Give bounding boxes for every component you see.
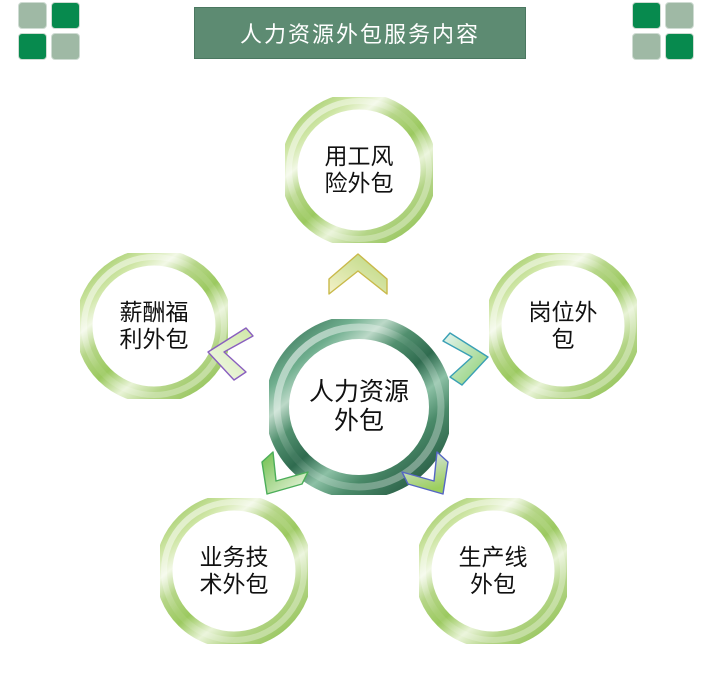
page-header: 人力资源外包服务内容 (0, 0, 718, 70)
corner-square-dark (665, 33, 694, 60)
corner-square-dark (51, 2, 80, 29)
corner-square-light (665, 2, 694, 29)
arrow-down-right-icon (397, 448, 457, 510)
ring-graphic (285, 97, 433, 243)
service-node-top[interactable]: 用工风 险外包 (285, 97, 433, 243)
service-node-right[interactable]: 岗位外 包 (489, 253, 637, 399)
arrow-down-left-icon (253, 448, 313, 510)
corner-square-dark (632, 2, 661, 29)
page-title: 人力资源外包服务内容 (240, 17, 480, 49)
ring-graphic (489, 253, 637, 399)
arrow-up-icon (325, 248, 391, 300)
ring-graphic (160, 498, 308, 644)
service-node-bottom-left[interactable]: 业务技 术外包 (160, 498, 308, 644)
corner-square-light (632, 33, 661, 60)
corner-square-light (51, 33, 80, 60)
header-title-bar: 人力资源外包服务内容 (194, 7, 526, 59)
corner-square-light (18, 2, 47, 29)
ring-graphic (419, 498, 567, 644)
arrow-right-icon (442, 328, 494, 390)
header-corner-left (18, 2, 84, 62)
arrow-left-icon (202, 323, 254, 385)
corner-square-dark (18, 33, 47, 60)
service-node-bottom-right[interactable]: 生产线 外包 (419, 498, 567, 644)
header-corner-right (632, 2, 698, 62)
outsourcing-services-diagram: 用工风 险外包 岗位外 包 生产线 外包 业务技 术外包 薪酬福 利外包 (0, 70, 718, 678)
